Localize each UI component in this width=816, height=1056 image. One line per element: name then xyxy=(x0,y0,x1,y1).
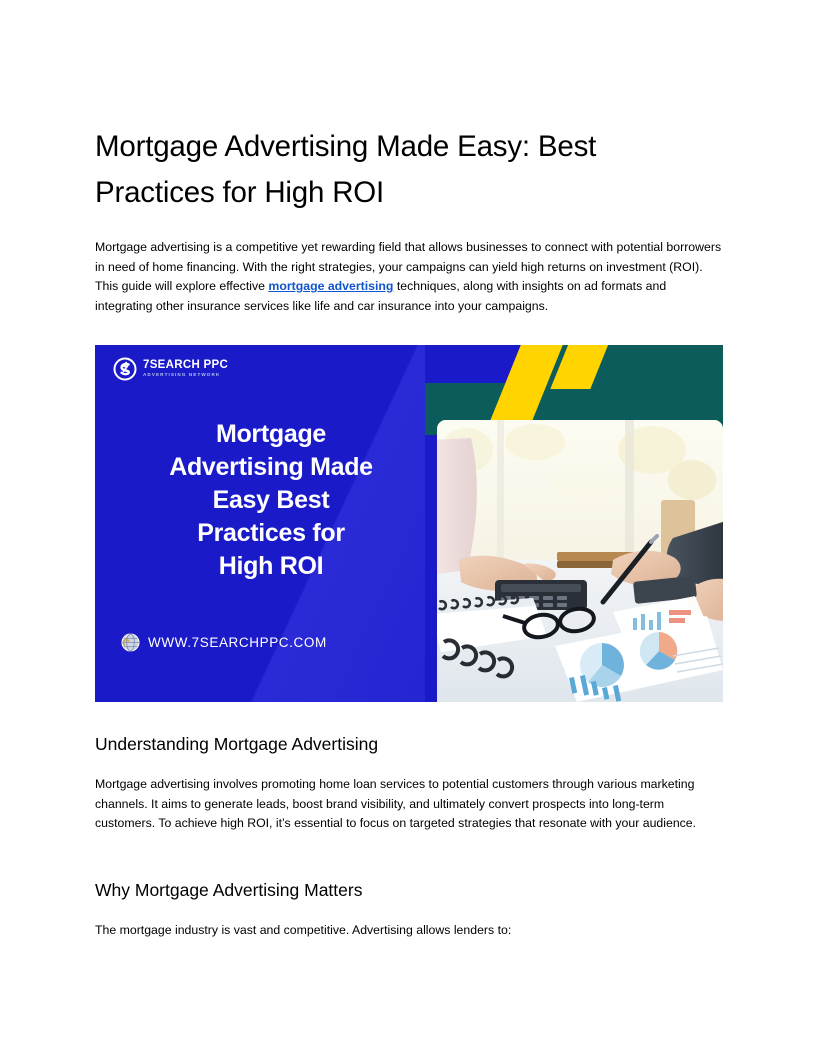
page-title: Mortgage Advertising Made Easy: Best Pra… xyxy=(95,124,710,216)
brand-logo-text: 7SEARCH PPC ADVERTISING NETWORK xyxy=(143,360,228,378)
banner-canvas: 7SEARCH PPC ADVERTISING NETWORK Mortgage… xyxy=(95,345,723,702)
section-body-why: The mortgage industry is vast and compet… xyxy=(95,921,713,941)
brand-name: 7SEARCH PPC xyxy=(143,360,228,372)
globe-icon xyxy=(121,633,140,652)
banner-headline-line-5: High ROI xyxy=(103,550,439,583)
section-heading-why: Why Mortgage Advertising Matters xyxy=(95,878,362,902)
banner-headline-line-2: Advertising Made xyxy=(103,451,439,484)
banner-headline: Mortgage Advertising Made Easy Best Prac… xyxy=(103,418,439,583)
banner-image: 7SEARCH PPC ADVERTISING NETWORK Mortgage… xyxy=(95,345,723,702)
section-body-understanding: Mortgage advertising involves promoting … xyxy=(95,775,713,834)
section-heading-understanding: Understanding Mortgage Advertising xyxy=(95,732,378,756)
intro-paragraph: Mortgage advertising is a competitive ye… xyxy=(95,238,723,316)
brand-tagline: ADVERTISING NETWORK xyxy=(143,373,228,378)
banner-headline-line-1: Mortgage xyxy=(103,418,439,451)
document-page: Mortgage Advertising Made Easy: Best Pra… xyxy=(0,0,816,1056)
banner-headline-line-4: Practices for xyxy=(103,517,439,550)
brand-logo: 7SEARCH PPC ADVERTISING NETWORK xyxy=(113,357,228,381)
banner-headline-line-3: Easy Best xyxy=(103,484,439,517)
document-body: Mortgage Advertising Made Easy: Best Pra… xyxy=(95,124,723,316)
mortgage-advertising-link[interactable]: mortgage advertising xyxy=(268,279,393,293)
banner-url-text: WWW.7SEARCHPPC.COM xyxy=(148,635,327,650)
banner-website-url: WWW.7SEARCHPPC.COM xyxy=(121,633,327,652)
business-meeting-photo xyxy=(437,420,723,702)
seven-search-swirl-icon xyxy=(113,357,137,381)
